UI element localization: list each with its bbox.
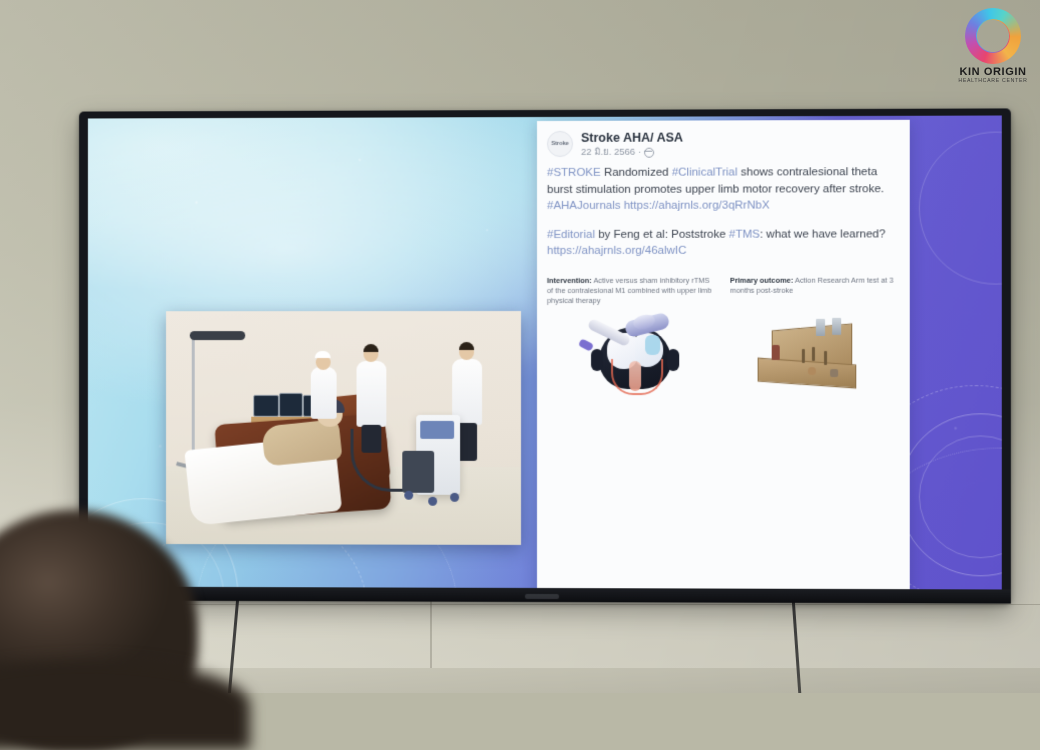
arat-peg-3 — [824, 351, 827, 365]
doctor-1-legs — [361, 425, 381, 453]
tv-brand-logo — [525, 594, 559, 599]
brain-stem — [629, 361, 641, 391]
post-text: Randomized — [601, 167, 672, 179]
television: TMS — [79, 108, 1011, 603]
tv-screen: TMS — [88, 115, 1002, 589]
wall-seam-vertical — [430, 600, 432, 693]
post-account-name[interactable]: Stroke AHA/ ASA — [581, 131, 683, 145]
post-text: by Feng et al: Poststroke — [595, 228, 729, 240]
post-link[interactable]: https://ahajrnls.org/3qRrNbX — [624, 200, 770, 212]
arat-ball — [808, 367, 816, 375]
logo-name: KIN ORIGIN — [954, 66, 1032, 78]
post-link[interactable]: #AHAJournals — [547, 200, 621, 212]
social-post-card: Stroke Stroke AHA/ ASA 22 มิ.ย. 2566 · #… — [537, 120, 910, 590]
ear-left — [591, 349, 603, 371]
avatar-label: Stroke — [551, 141, 568, 147]
outcome-label: Primary outcome: — [730, 275, 793, 284]
post-link[interactable]: #Editorial — [547, 228, 595, 240]
tms-machine-base-unit — [402, 451, 434, 493]
post-link[interactable]: #ClinicalTrial — [672, 166, 738, 178]
arat-cylinder-1 — [816, 319, 825, 336]
post-link[interactable]: https://ahajrnls.org/46alwIC — [547, 245, 687, 257]
post-body: #STROKE Randomized #ClinicalTrial shows … — [537, 160, 910, 259]
kin-origin-logo-inner — [976, 19, 1010, 53]
doctor-1-hair — [363, 344, 378, 352]
arat-bottle — [772, 345, 780, 360]
exam-lamp-arm — [192, 335, 195, 468]
arat-test-box-icon — [750, 321, 863, 391]
nurse-cap — [315, 351, 331, 358]
kin-origin-logo: KIN ORIGIN HEALTHCARE CENTER — [954, 8, 1032, 88]
post-date: 22 มิ.ย. 2566 — [581, 146, 635, 159]
arat-block — [830, 369, 838, 377]
post-meta: 22 มิ.ย. 2566 · — [581, 146, 683, 159]
arat-cylinder-2 — [832, 318, 841, 335]
ear-right — [667, 349, 679, 371]
post-link[interactable]: #STROKE — [547, 167, 601, 179]
post-paragraph-1: #STROKE Randomized #ClinicalTrial shows … — [547, 164, 900, 214]
clinic-photo — [166, 311, 521, 545]
tms-coil-handle-tip — [578, 338, 594, 351]
monitor-2 — [279, 393, 303, 417]
cart-wheel-2 — [450, 493, 459, 502]
outcome-column: Primary outcome: Action Research Arm tes… — [730, 275, 900, 306]
presentation-slide: TMS — [88, 115, 1002, 589]
monitor-1 — [253, 395, 279, 417]
globe-icon — [644, 147, 654, 157]
logo-subtitle: HEALTHCARE CENTER — [954, 78, 1032, 84]
arat-peg-1 — [802, 349, 805, 363]
intervention-label: Intervention: — [547, 275, 592, 284]
doctor-1-body — [357, 361, 387, 427]
post-link[interactable]: #TMS — [729, 228, 760, 240]
arat-peg-2 — [812, 347, 815, 361]
avatar: Stroke — [547, 131, 573, 157]
tms-coil-over-brain-icon — [577, 315, 685, 391]
kin-origin-logo-icon — [965, 8, 1021, 64]
post-text: : what we have learned? — [760, 228, 886, 240]
intervention-column: Intervention: Active versus sham inhibit… — [547, 275, 716, 306]
exam-lamp-head — [190, 331, 245, 340]
study-summary: Intervention: Active versus sham inhibit… — [537, 271, 910, 307]
tms-machine-panel — [420, 421, 454, 439]
cart-wheel-1 — [404, 491, 413, 500]
study-figures — [537, 310, 910, 394]
brain-stimulated-region — [645, 335, 660, 355]
meta-separator: · — [638, 146, 641, 159]
nurse-body — [311, 367, 337, 419]
cart-wheel-3 — [428, 497, 437, 506]
doctor-2-hair — [459, 342, 474, 350]
post-header: Stroke Stroke AHA/ ASA 22 มิ.ย. 2566 · — [537, 120, 910, 161]
post-paragraph-2: #Editorial by Feng et al: Poststroke #TM… — [547, 226, 900, 260]
